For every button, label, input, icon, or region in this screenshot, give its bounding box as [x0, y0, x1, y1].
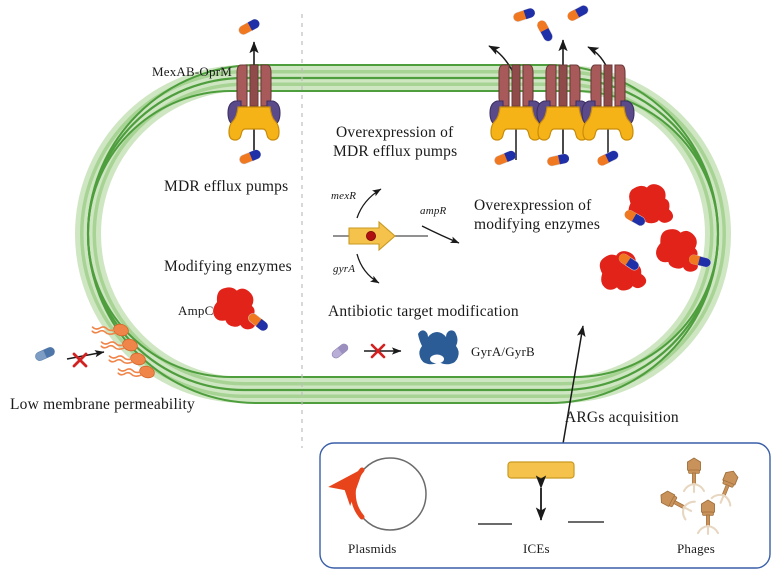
- efflux-pump-left: [228, 42, 280, 160]
- label-overexpression-pumps-line1: Overexpression of: [336, 124, 453, 142]
- label-phages: Phages: [677, 541, 715, 557]
- cytoplasmic-antibiotics: [493, 149, 620, 167]
- label-mdr-efflux-pumps: MDR efflux pumps: [164, 178, 288, 196]
- ampR-arrow: [422, 226, 459, 243]
- label-gyra-gyrb: GyrA/GyrB: [471, 344, 535, 360]
- label-mexab-oprm: MexAB-OprM: [152, 64, 232, 80]
- label-plasmids: Plasmids: [348, 541, 397, 557]
- label-overexpression-pumps-line2: MDR efflux pumps: [333, 143, 457, 161]
- expelled-antibiotics: [512, 4, 590, 43]
- modifying-enzyme-2: [654, 226, 712, 273]
- efflux-pump-right-2: [537, 40, 589, 160]
- gyrA-arrow: [357, 254, 379, 283]
- label-gene-ampr: ampR: [420, 205, 446, 217]
- mutated-gene: [333, 222, 428, 250]
- diagram-svg: [0, 0, 777, 575]
- antibiotic-capsule: [238, 149, 262, 166]
- label-low-membrane-permeability: Low membrane permeability: [10, 396, 195, 414]
- modifying-enzyme-3: [595, 247, 647, 296]
- modifying-enzyme-1: [623, 182, 674, 227]
- figure-canvas: MexAB-OprM MDR efflux pumps Modifying en…: [0, 0, 777, 575]
- label-ices: ICEs: [523, 541, 550, 557]
- label-modifying-enzymes: Modifying enzymes: [164, 258, 292, 276]
- excluded-antibiotic: [34, 346, 104, 366]
- label-gene-gyra: gyrA: [333, 263, 355, 275]
- label-overexpression-enzymes-line2: modifying enzymes: [474, 216, 600, 234]
- label-args-acquisition: ARGs acquisition: [565, 409, 679, 427]
- label-antibiotic-target-modification: Antibiotic target modification: [328, 303, 519, 321]
- label-ampc: AmpC: [178, 303, 213, 319]
- efflux-pump-right-3: [582, 47, 634, 160]
- label-overexpression-enzymes-line1: Overexpression of: [474, 197, 591, 215]
- antibiotic-capsule: [237, 18, 261, 37]
- blocked-x-icon: [74, 354, 86, 366]
- target-modification-group: [331, 330, 459, 364]
- label-gene-mexr: mexR: [331, 190, 356, 202]
- ampc-enzyme: [211, 285, 270, 333]
- efflux-pump-right-1: [489, 46, 542, 160]
- mexR-arrow: [357, 189, 381, 218]
